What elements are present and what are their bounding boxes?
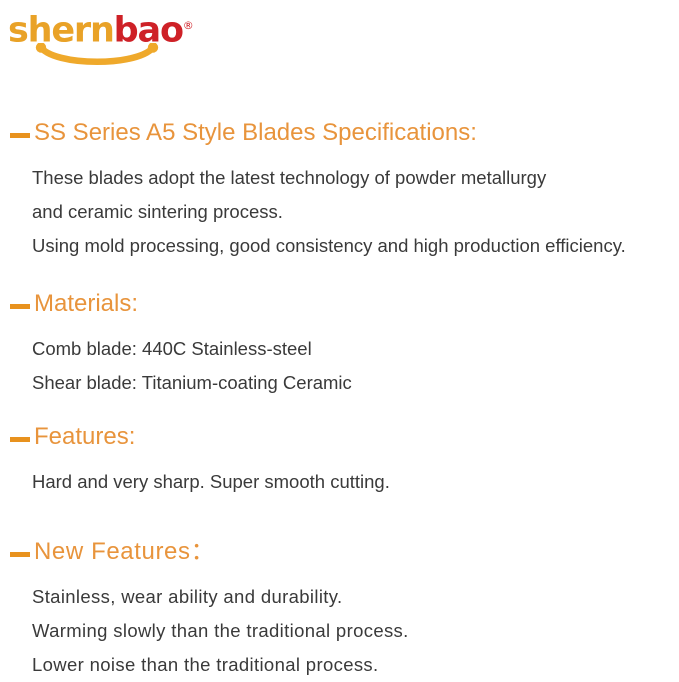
brand-name-bao: bao [114,11,183,51]
section-body-features: Hard and very sharp. Super smooth cuttin… [32,465,669,499]
section-title-materials: Materials: [34,289,138,319]
dash-marker-icon [10,552,30,557]
section-body-materials: Comb blade: 440C Stainless-steel Shear b… [32,332,669,400]
dash-marker-icon [10,437,30,442]
body-line: Comb blade: 440C Stainless-steel [32,332,669,366]
section-body-specifications: These blades adopt the latest technology… [32,161,669,263]
section-heading-row: SS Series A5 Style Blades Specifications… [10,118,669,148]
spacer [10,400,669,422]
body-line: These blades adopt the latest technology… [32,161,669,195]
spacer [10,62,669,118]
section-body-new-features: Stainless, wear ability and durability. … [32,580,669,682]
section-title-specifications: SS Series A5 Style Blades Specifications… [34,118,477,148]
body-line: Warming slowly than the traditional proc… [32,614,669,648]
spacer [10,499,669,537]
body-line: Shear blade: Titanium-coating Ceramic [32,366,669,400]
section-heading-row: Features: [10,422,669,452]
brand-wordmark: shernbao® [8,6,194,51]
specification-sheet: SS Series A5 Style Blades Specifications… [0,62,679,682]
body-line: Lower noise than the traditional process… [32,648,669,682]
registered-trademark-icon: ® [183,19,194,32]
section-heading-row: Materials: [10,289,669,319]
dash-marker-icon [10,304,30,309]
body-line: and ceramic sintering process. [32,195,669,229]
section-features: Features: Hard and very sharp. Super smo… [10,422,669,499]
body-line: Hard and very sharp. Super smooth cuttin… [32,465,669,499]
section-materials: Materials: Comb blade: 440C Stainless-st… [10,289,669,400]
section-title-new-features: New Features： [34,537,215,567]
section-specifications: SS Series A5 Style Blades Specifications… [10,118,669,263]
brand-logo: shernbao® [0,0,679,62]
body-line: Using mold processing, good consistency … [32,229,669,263]
body-line: Stainless, wear ability and durability. [32,580,669,614]
dash-marker-icon [10,133,30,138]
section-heading-row: New Features： [10,537,669,567]
section-title-features: Features: [34,422,135,452]
spacer [10,263,669,289]
brand-name-shern: shern [8,11,114,51]
section-new-features: New Features： Stainless, wear ability an… [10,537,669,682]
